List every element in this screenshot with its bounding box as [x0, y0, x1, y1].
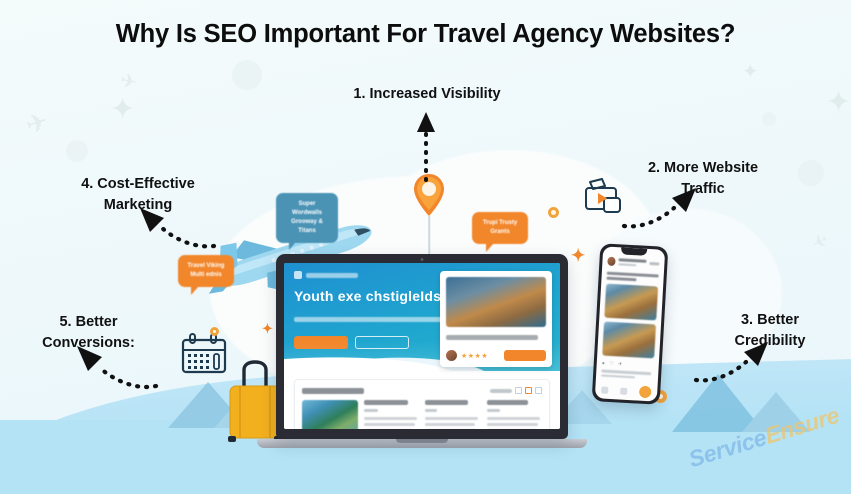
decorative-plane-icon: ✈ [809, 229, 831, 252]
phone-post-text [606, 277, 636, 282]
laptop-screen: Youth exe chstigleIds [284, 263, 560, 429]
decorative-star-icon: ✦ [826, 88, 851, 118]
decorative-blob [762, 112, 776, 126]
laptop-camera [421, 258, 424, 261]
infographic-canvas: ✈ ✈ ✦ ✦ ✦ ✈ Why Is SEO Important For Tra… [0, 0, 851, 494]
phone-bottom-nav [595, 383, 658, 398]
reaction-icon[interactable]: ♡ [609, 361, 614, 367]
arrow-increased-visibility [404, 110, 444, 182]
offer-card[interactable] [364, 400, 420, 429]
list-view-icon[interactable] [525, 387, 532, 394]
arrow-more-website-traffic [620, 186, 706, 232]
filter-icon[interactable] [535, 387, 542, 394]
offer-meta [487, 409, 500, 412]
decorative-star-icon: ✦ [110, 95, 135, 125]
destination-cta-button[interactable] [504, 350, 546, 361]
offer-card[interactable] [425, 400, 481, 429]
laptop-mockup: Youth exe chstigleIds [276, 254, 568, 448]
offer-body-line [364, 417, 417, 420]
sparkle-icon: ✦ [571, 247, 585, 264]
video-play-glyph [582, 178, 624, 216]
phone-post-image [602, 322, 656, 359]
destination-image [446, 277, 546, 327]
reaction-icon[interactable]: ✈ [618, 361, 623, 367]
speech-bubble-orange-left: Travel Viking Multi ednis [178, 255, 234, 287]
offer-meta [364, 409, 378, 412]
decorative-blob [798, 160, 824, 186]
calendar-glyph [180, 332, 228, 376]
video-play-icon [582, 178, 624, 221]
orange-ring-icon [210, 327, 219, 336]
offers-grid [302, 400, 542, 429]
calendar-icon [180, 332, 228, 381]
website-logo-text [306, 273, 358, 278]
offer-heading [364, 400, 408, 405]
phone-status-bar [649, 262, 659, 266]
offer-card[interactable] [487, 400, 543, 429]
phone-reactions-row: ● ♡ ✈ [602, 360, 654, 369]
arrow-better-credibility [692, 340, 778, 386]
destination-caption [446, 335, 538, 340]
offers-toolbar [490, 387, 542, 394]
offer-body-line [364, 423, 415, 426]
laptop-base-notch [396, 439, 448, 443]
laptop-body: Youth exe chstigleIds [276, 254, 568, 439]
offers-toolbar-text [490, 389, 512, 393]
phone-post-image [604, 284, 658, 321]
offer-body-line [425, 423, 475, 426]
nav-profile-icon[interactable] [639, 386, 652, 399]
offer-thumbnail [302, 400, 358, 429]
destination-meta-row: ★★★★ [446, 350, 546, 361]
phone-screen: ● ♡ ✈ [595, 246, 665, 401]
offer-body-line [487, 423, 539, 426]
nav-home-icon[interactable] [601, 386, 608, 393]
decorative-plane-icon: ✈ [118, 70, 139, 93]
offer-card[interactable] [302, 400, 358, 429]
decorative-blob [66, 140, 88, 162]
laptop-base [257, 439, 587, 448]
speech-bubble-blue: Super Wordwalls Grooway & Titans [276, 193, 338, 243]
offer-heading [487, 400, 528, 405]
sparkle-icon: ✦ [262, 322, 273, 335]
phone-account-sub [618, 263, 636, 266]
grid-view-icon[interactable] [515, 387, 522, 394]
phone-notch [621, 247, 647, 255]
arrow-cost-effective-marketing [126, 206, 218, 252]
website-destination-card[interactable]: ★★★★ [440, 271, 552, 367]
reaction-icon[interactable]: ● [602, 360, 606, 366]
decorative-plane-icon: ✈ [23, 107, 52, 138]
website-lower-section [284, 371, 560, 429]
offer-body-line [487, 417, 541, 420]
phone-account-name [619, 258, 647, 263]
speech-bubble-orange-right: Trupi Trusty Grants [472, 212, 528, 244]
orange-ring-icon [548, 207, 559, 218]
offer-body-line [425, 417, 478, 420]
offer-meta [425, 409, 437, 412]
label-increased-visibility: 1. Increased Visibility [332, 84, 522, 105]
offer-heading [425, 400, 468, 405]
logo-mark-icon [294, 271, 302, 279]
nav-search-icon[interactable] [620, 387, 627, 394]
decorative-star-icon: ✦ [742, 62, 759, 82]
phone-mockup: ● ♡ ✈ [592, 243, 669, 405]
avatar [446, 350, 457, 361]
website-offers-panel [294, 379, 550, 429]
phone-caption [601, 374, 635, 378]
arrow-better-conversions [64, 344, 160, 392]
offers-header [302, 387, 542, 394]
offers-title [302, 388, 364, 394]
rating-stars-icon: ★★★★ [461, 352, 488, 360]
phone-account-row [607, 257, 659, 269]
decorative-blob [232, 60, 262, 90]
avatar [607, 257, 616, 266]
hero-subtitle-line-1 [294, 317, 444, 322]
page-title: Why Is SEO Important For Travel Agency W… [0, 20, 851, 49]
